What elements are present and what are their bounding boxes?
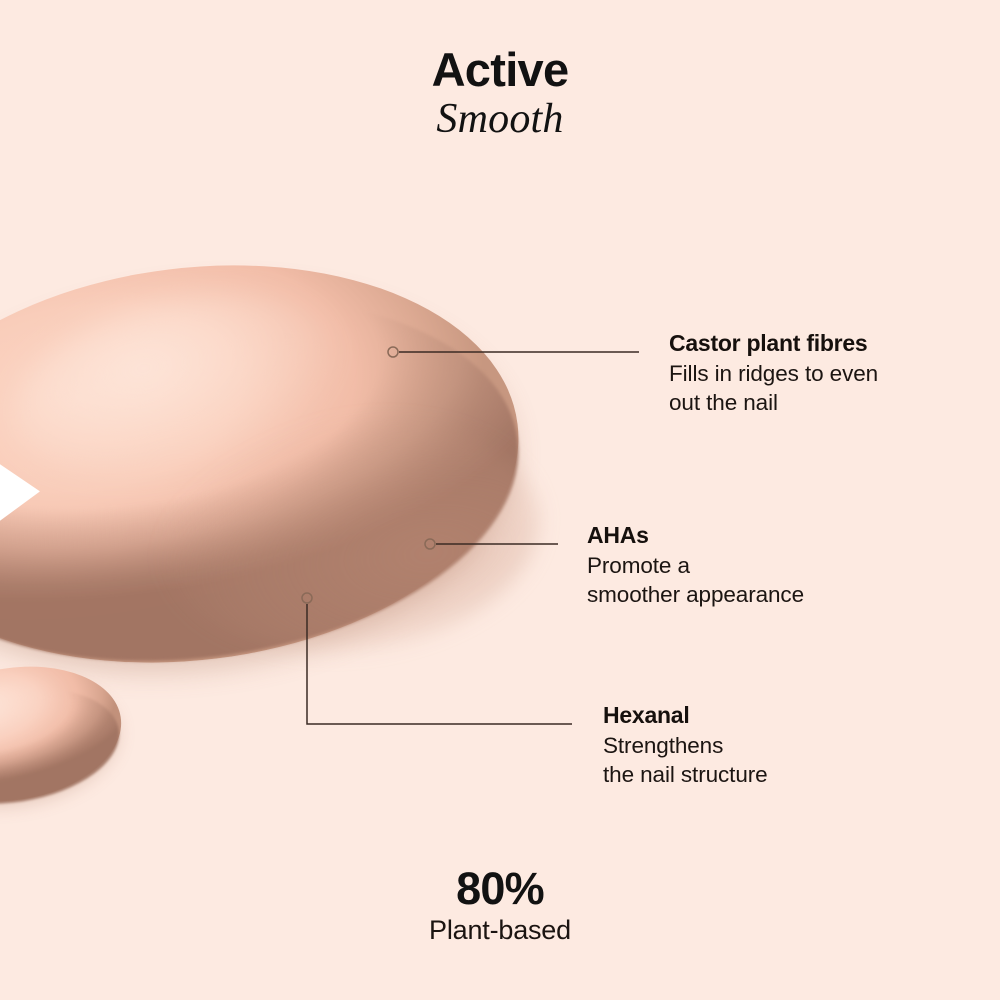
footer-statistic: 80% bbox=[0, 866, 1000, 913]
callout-hexanal: Hexanal Strengthens the nail structure bbox=[603, 701, 768, 789]
callout-description-line: out the nail bbox=[669, 388, 878, 417]
title-secondary: Smooth bbox=[0, 94, 1000, 145]
callout-ahas: AHAs Promote a smoother appearance bbox=[587, 521, 804, 609]
callout-description-line: Fills in ridges to even bbox=[669, 359, 878, 388]
callout-castor-plant-fibres: Castor plant fibres Fills in ridges to e… bbox=[669, 329, 878, 417]
callout-title: Castor plant fibres bbox=[669, 329, 878, 359]
infographic-canvas: Active Smooth Castor plant fibres Fills … bbox=[0, 0, 1000, 1000]
text-layer: Active Smooth Castor plant fibres Fills … bbox=[0, 0, 1000, 1000]
footer-statistic-label: Plant-based bbox=[0, 913, 1000, 947]
callout-title: Hexanal bbox=[603, 701, 768, 731]
footer-claim: 80% Plant-based bbox=[0, 866, 1000, 947]
callout-description-line: Strengthens bbox=[603, 731, 768, 760]
callout-description-line: the nail structure bbox=[603, 760, 768, 789]
callout-description-line: Promote a bbox=[587, 551, 804, 580]
title-primary: Active bbox=[0, 46, 1000, 94]
callout-title: AHAs bbox=[587, 521, 804, 551]
callout-description-line: smoother appearance bbox=[587, 580, 804, 609]
page-title: Active Smooth bbox=[0, 46, 1000, 145]
